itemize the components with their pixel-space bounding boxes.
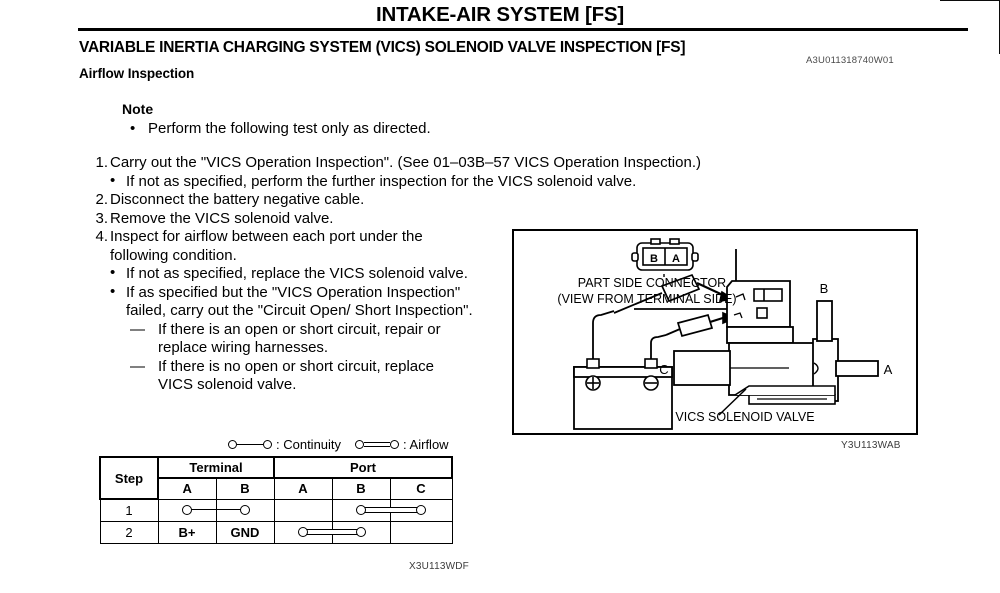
- substep-text: If not as specified, replace the VICS so…: [126, 265, 468, 282]
- cell-terminal-a: B+: [158, 521, 216, 543]
- bullet-icon: •: [130, 120, 148, 137]
- cell-terminal-a: [158, 499, 216, 521]
- note-bullet: •Perform the following test only as dire…: [130, 120, 431, 137]
- dash-icon: —: [130, 358, 145, 377]
- step-text: Remove the VICS solenoid valve.: [110, 210, 333, 227]
- table-row: 1: [100, 499, 452, 521]
- svg-text:B: B: [650, 253, 658, 265]
- figure-port-b-label: B: [820, 281, 829, 296]
- airflow-link-icon: [303, 529, 361, 535]
- diagram-svg: B A: [514, 231, 916, 433]
- table-figure-code: X3U113WDF: [409, 561, 469, 572]
- part-side-connector-icon: [632, 239, 698, 270]
- port-node-icon: [356, 505, 366, 515]
- cell-step: 1: [100, 499, 158, 521]
- diagram-figure-code: Y3U113WAB: [841, 440, 901, 451]
- battery-icon: [574, 359, 672, 429]
- table-header-row: Step Terminal Port: [100, 457, 452, 478]
- port-node-icon: [416, 505, 426, 515]
- connector-label-line1: PART SIDE CONNECTOR: [578, 276, 726, 290]
- terminal-node-icon: [240, 505, 250, 515]
- airflow-symbol-icon: [355, 440, 399, 449]
- step-number: 1.: [88, 154, 108, 173]
- section-title: VARIABLE INERTIA CHARGING SYSTEM (VICS) …: [79, 39, 685, 57]
- header-terminal-group: Terminal: [158, 457, 274, 478]
- header-port-b: B: [332, 478, 390, 499]
- port-node-icon: [356, 527, 366, 537]
- test-probe-lower-icon: [666, 313, 735, 336]
- continuity-symbol-icon: [228, 440, 272, 449]
- header-step: Step: [100, 457, 158, 499]
- bullet-icon: •: [110, 283, 115, 302]
- dash-text: If there is an open or short circuit, re…: [158, 321, 441, 357]
- step-number: 2.: [88, 191, 108, 210]
- port-node-icon: [298, 527, 308, 537]
- svg-text:A: A: [672, 253, 680, 265]
- figure-port-a-label: A: [884, 362, 893, 377]
- dash-text: If there is no open or short circuit, re…: [158, 358, 434, 394]
- cell-terminal-b: [216, 499, 274, 521]
- terminal-node-icon: [182, 505, 192, 515]
- dash-item: — If there is no open or short circuit, …: [88, 358, 473, 395]
- cell-terminal-b: GND: [216, 521, 274, 543]
- cell-port-a: [274, 499, 332, 521]
- step-item: 4. Inspect for airflow between each port…: [88, 228, 473, 265]
- step-number: 4.: [88, 228, 108, 247]
- valve-caption: VICS SOLENOID VALVE: [675, 410, 814, 424]
- header-terminal-b: B: [216, 478, 274, 499]
- substep-item: • If not as specified, replace the VICS …: [88, 265, 473, 284]
- continuity-link-icon: [187, 509, 245, 510]
- substep-item: • If not as specified, perform the furth…: [88, 173, 778, 192]
- step-number: 3.: [88, 210, 108, 229]
- manual-page: INTAKE-AIR SYSTEM [FS] VARIABLE INERTIA …: [0, 0, 1000, 593]
- header-divider: [78, 28, 968, 31]
- continuity-legend-label: : Continuity: [276, 437, 341, 452]
- dash-item: — If there is an open or short circuit, …: [88, 321, 473, 358]
- connector-label-line2: (VIEW FROM TERMINAL SIDE): [557, 292, 736, 306]
- cell-port-a: [274, 521, 332, 543]
- airflow-link-icon: [361, 507, 421, 513]
- subsection-title: Airflow Inspection: [79, 66, 194, 81]
- header-terminal-a: A: [158, 478, 216, 499]
- header-port-group: Port: [274, 457, 452, 478]
- figure-port-c-label: C: [659, 362, 668, 377]
- bullet-icon: •: [110, 172, 115, 191]
- airflow-inspection-table: Step Terminal Port A B A B C 1: [99, 456, 453, 544]
- substep-item: • If as specified but the "VICS Operatio…: [88, 284, 473, 321]
- step-text: Disconnect the battery negative cable.: [110, 191, 364, 208]
- step-item: 1. Carry out the "VICS Operation Inspect…: [88, 154, 778, 173]
- step-item: 3. Remove the VICS solenoid valve.: [88, 210, 778, 229]
- bullet-icon: •: [110, 264, 115, 283]
- dash-icon: —: [130, 321, 145, 340]
- cell-step: 2: [100, 521, 158, 543]
- cell-port-b: [332, 499, 390, 521]
- note-bullet-text: Perform the following test only as direc…: [148, 120, 431, 137]
- note-heading: Note: [122, 101, 153, 117]
- header-port-a: A: [274, 478, 332, 499]
- airflow-legend-label: : Airflow: [403, 437, 449, 452]
- substep-text: If not as specified, perform the further…: [126, 173, 636, 190]
- step-item: 2. Disconnect the battery negative cable…: [88, 191, 778, 210]
- header-port-c: C: [390, 478, 452, 499]
- document-code: A3U011318740W01: [806, 55, 894, 66]
- vics-solenoid-diagram: B A: [512, 229, 918, 435]
- cell-port-c: [390, 521, 452, 543]
- step-text: Inspect for airflow between each port un…: [110, 228, 423, 264]
- step-text: Carry out the "VICS Operation Inspection…: [110, 154, 701, 171]
- table-row: 2 B+ GND: [100, 521, 452, 543]
- substep-text: If as specified but the "VICS Operation …: [126, 284, 473, 320]
- table-legend: : Continuity : Airflow: [228, 437, 449, 452]
- page-title: INTAKE-AIR SYSTEM [FS]: [0, 3, 1000, 27]
